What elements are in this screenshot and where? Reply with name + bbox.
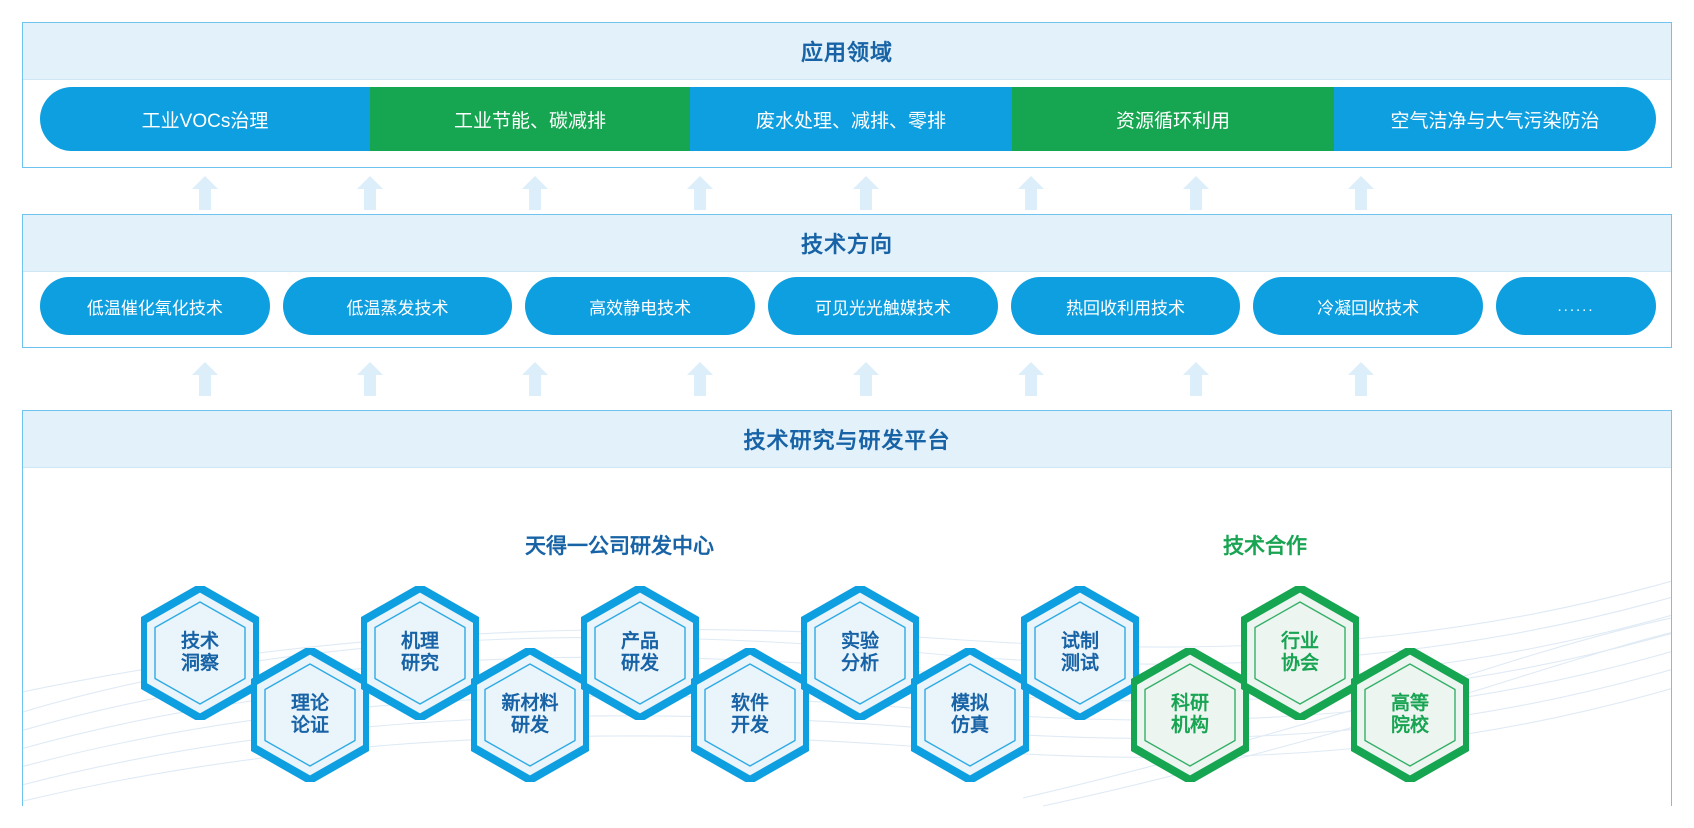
hexagon-node[interactable]: 试制测试 xyxy=(1021,586,1139,720)
hexagon-node[interactable]: 模拟仿真 xyxy=(911,648,1029,782)
group-title-cooperation: 技术合作 xyxy=(1223,530,1307,560)
hexagon-node[interactable]: 技术洞察 xyxy=(141,586,259,720)
infographic-root: 应用领域 工业VOCs治理工业节能、碳减排废水处理、减排、零排资源循环利用空气洁… xyxy=(0,0,1694,828)
application-domain-header: 应用领域 xyxy=(23,23,1671,80)
arrow-up-icon xyxy=(853,176,879,210)
arrow-up-icon xyxy=(687,362,713,396)
rd-platform-title: 技术研究与研发平台 xyxy=(743,423,950,455)
technology-direction-panel: 技术方向 低温催化氧化技术低温蒸发技术高效静电技术可见光光触媒技术热回收利用技术… xyxy=(22,214,1672,348)
hexagon-node[interactable]: 科研机构 xyxy=(1131,648,1249,782)
hexagon-node[interactable]: 高等院校 xyxy=(1351,648,1469,782)
application-domain-strip: 工业VOCs治理工业节能、碳减排废水处理、减排、零排资源循环利用空气洁净与大气污… xyxy=(40,87,1656,151)
arrow-up-icon xyxy=(522,362,548,396)
application-domain-panel: 应用领域 工业VOCs治理工业节能、碳减排废水处理、减排、零排资源循环利用空气洁… xyxy=(22,22,1672,168)
rd-platform-header: 技术研究与研发平台 xyxy=(23,411,1671,468)
hexagon-node[interactable]: 行业协会 xyxy=(1241,586,1359,720)
technology-direction-title: 技术方向 xyxy=(801,227,893,259)
arrow-up-icon xyxy=(1348,176,1374,210)
technology-pill[interactable]: 低温催化氧化技术 xyxy=(40,277,270,335)
arrow-up-icon xyxy=(192,362,218,396)
hexagon-node[interactable]: 理论论证 xyxy=(251,648,369,782)
hexagon-node[interactable]: 产品研发 xyxy=(581,586,699,720)
application-domain-cell[interactable]: 废水处理、减排、零排 xyxy=(690,87,1012,151)
arrow-up-icon xyxy=(1018,362,1044,396)
technology-pill[interactable]: 热回收利用技术 xyxy=(1011,277,1241,335)
arrow-up-icon xyxy=(853,362,879,396)
hexagon-node[interactable]: 机理研究 xyxy=(361,586,479,720)
technology-pill-more[interactable]: ...... xyxy=(1496,277,1656,335)
rd-platform-panel: 技术研究与研发平台 天得一公司研发中心 技术合作 技术洞察理论论证机理研究新 xyxy=(22,410,1672,806)
technology-pill-row: 低温催化氧化技术低温蒸发技术高效静电技术可见光光触媒技术热回收利用技术冷凝回收技… xyxy=(40,277,1656,335)
arrow-up-icon xyxy=(522,176,548,210)
arrow-up-icon xyxy=(1183,362,1209,396)
arrow-up-icon xyxy=(357,176,383,210)
application-domain-cell[interactable]: 工业VOCs治理 xyxy=(40,87,370,151)
technology-direction-header: 技术方向 xyxy=(23,215,1671,272)
technology-pill[interactable]: 低温蒸发技术 xyxy=(283,277,513,335)
arrow-up-icon xyxy=(192,176,218,210)
application-domain-title: 应用领域 xyxy=(801,35,893,67)
rd-platform-body: 天得一公司研发中心 技术合作 技术洞察理论论证机理研究新材料研发产品研发软件开发… xyxy=(23,468,1671,807)
application-domain-cell[interactable]: 资源循环利用 xyxy=(1012,87,1334,151)
technology-pill[interactable]: 可见光光触媒技术 xyxy=(768,277,998,335)
hexagon-node[interactable]: 实验分析 xyxy=(801,586,919,720)
arrow-row-upper xyxy=(0,176,1694,210)
hexagon-node[interactable]: 新材料研发 xyxy=(471,648,589,782)
arrow-up-icon xyxy=(1348,362,1374,396)
application-domain-cell[interactable]: 空气洁净与大气污染防治 xyxy=(1334,87,1656,151)
arrow-up-icon xyxy=(687,176,713,210)
arrow-up-icon xyxy=(357,362,383,396)
arrow-up-icon xyxy=(1183,176,1209,210)
application-domain-cell[interactable]: 工业节能、碳减排 xyxy=(370,87,690,151)
technology-pill[interactable]: 冷凝回收技术 xyxy=(1253,277,1483,335)
arrow-up-icon xyxy=(1018,176,1044,210)
technology-pill[interactable]: 高效静电技术 xyxy=(525,277,755,335)
arrow-row-lower xyxy=(0,362,1694,396)
hexagon-node[interactable]: 软件开发 xyxy=(691,648,809,782)
group-title-rd: 天得一公司研发中心 xyxy=(525,530,714,560)
